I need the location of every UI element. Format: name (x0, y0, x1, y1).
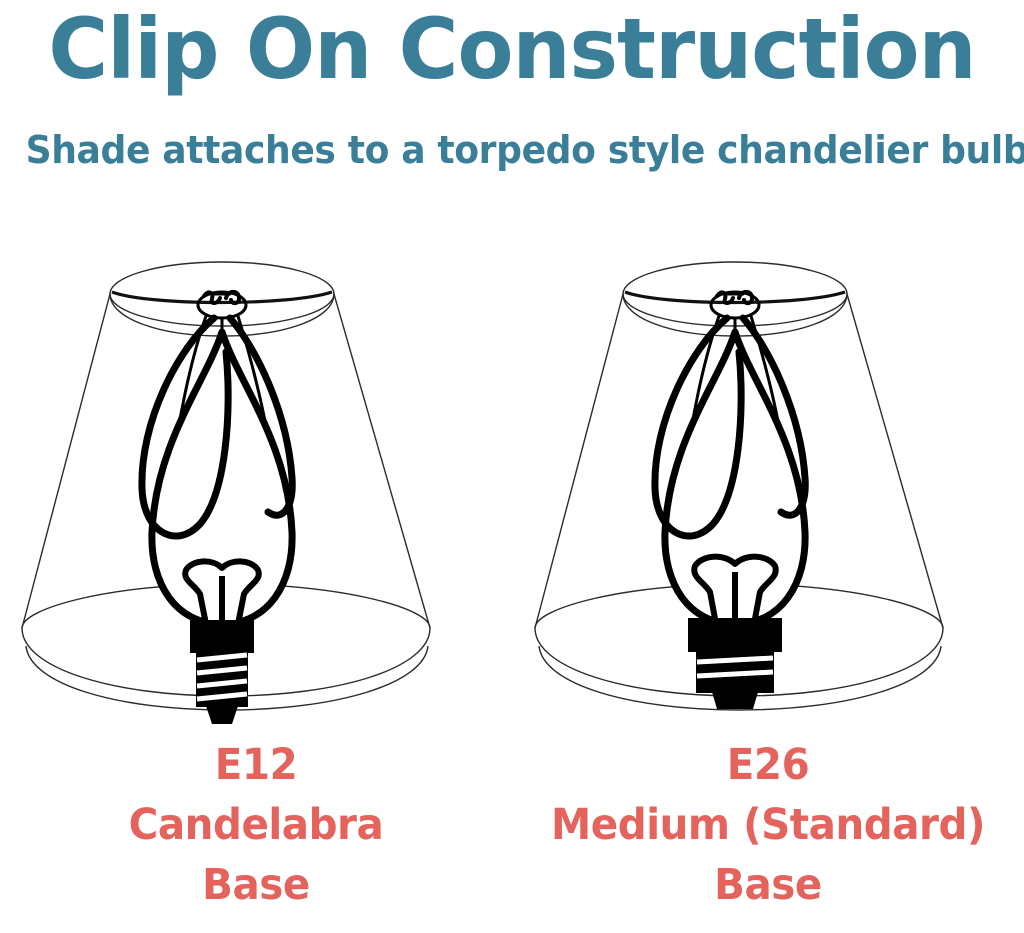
figure-e12 (0, 232, 512, 732)
caption-e12-line1: E12 (15, 735, 496, 795)
shade-right-side (847, 294, 943, 628)
bulb-base-e12 (190, 620, 254, 724)
infographic-page: Clip On Construction Shade attaches to a… (0, 0, 1024, 933)
lamp-shade-e12-illustration (0, 232, 512, 732)
figure-e26 (512, 232, 1024, 732)
caption-e12: E12 Candelabra Base (15, 735, 496, 915)
shade-right-side (334, 294, 430, 628)
base-foot-contact (712, 692, 758, 709)
page-title: Clip On Construction (15, 4, 1008, 94)
shade-left-side (535, 294, 623, 628)
shade-left-side (22, 294, 110, 628)
caption-e26: E26 Medium (Standard) Base (527, 735, 1008, 915)
caption-e12-line3: Base (15, 855, 496, 915)
base-collar (688, 618, 782, 652)
clip-ring-assembly (198, 292, 246, 318)
captions-row: E12 Candelabra Base E26 Medium (Standard… (0, 735, 1024, 933)
base-foot-contact (206, 706, 238, 724)
clip-ring-assembly (711, 292, 759, 318)
page-subtitle: Shade attaches to a torpedo style chande… (26, 127, 999, 173)
caption-e12-line2: Candelabra (15, 795, 496, 855)
caption-e26-line1: E26 (527, 735, 1008, 795)
lamp-shade-e26-illustration (512, 232, 1024, 732)
caption-e26-line3: Base (527, 855, 1008, 915)
base-collar (190, 620, 254, 653)
caption-e26-line2: Medium (Standard) (527, 795, 1008, 855)
illustrations-row (0, 232, 1024, 732)
